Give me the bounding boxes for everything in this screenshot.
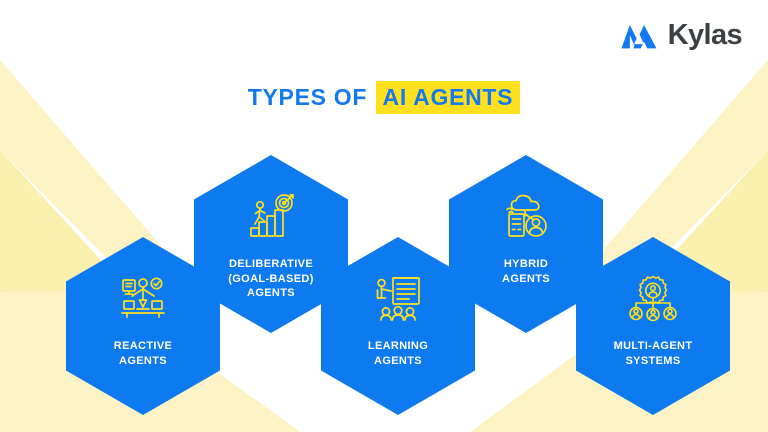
title-highlight: AI AGENTS <box>376 81 521 114</box>
infographic-canvas: Kylas TYPES OF AI AGENTS <box>0 0 768 432</box>
brand-logo[interactable]: Kylas <box>619 18 742 52</box>
presenter-whiteboard-students-icon <box>372 273 424 325</box>
hex-label-line: (GOAL-BASED) <box>206 272 336 287</box>
hex-label-line: HYBRID <box>461 257 591 272</box>
agent-at-desk-with-checkmark-icon <box>117 273 169 325</box>
hex-label-line: AGENTS <box>461 272 591 287</box>
hex-label-line: MULTI-AGENT <box>588 339 718 354</box>
hex-label-learning-agents: LEARNING AGENTS <box>333 339 463 368</box>
hex-label-line: AGENTS <box>78 354 208 369</box>
kylas-mountain-logo-icon <box>619 18 659 52</box>
gear-network-of-agents-icon <box>627 273 679 325</box>
hex-label-line: LEARNING <box>333 339 463 354</box>
title-lead: TYPES OF <box>248 84 367 110</box>
hex-label-line: REACTIVE <box>78 339 208 354</box>
hex-label-hybrid-agents: HYBRID AGENTS <box>461 257 591 286</box>
hex-label-deliberative-goal-based-agents: DELIBERATIVE (GOAL-BASED) AGENTS <box>206 257 336 301</box>
hex-label-line: DELIBERATIVE <box>206 257 336 272</box>
page-title: TYPES OF AI AGENTS <box>0 86 768 110</box>
cloud-server-user-icon <box>500 191 552 243</box>
hex-label-line: AGENTS <box>206 286 336 301</box>
hex-label-line: SYSTEMS <box>588 354 718 369</box>
hex-label-reactive-agents: REACTIVE AGENTS <box>78 339 208 368</box>
brand-name: Kylas <box>668 21 742 50</box>
person-climbing-bars-to-target-icon <box>245 191 297 243</box>
hex-label-line: AGENTS <box>333 354 463 369</box>
hex-label-multi-agent-systems: MULTI-AGENT SYSTEMS <box>588 339 718 368</box>
